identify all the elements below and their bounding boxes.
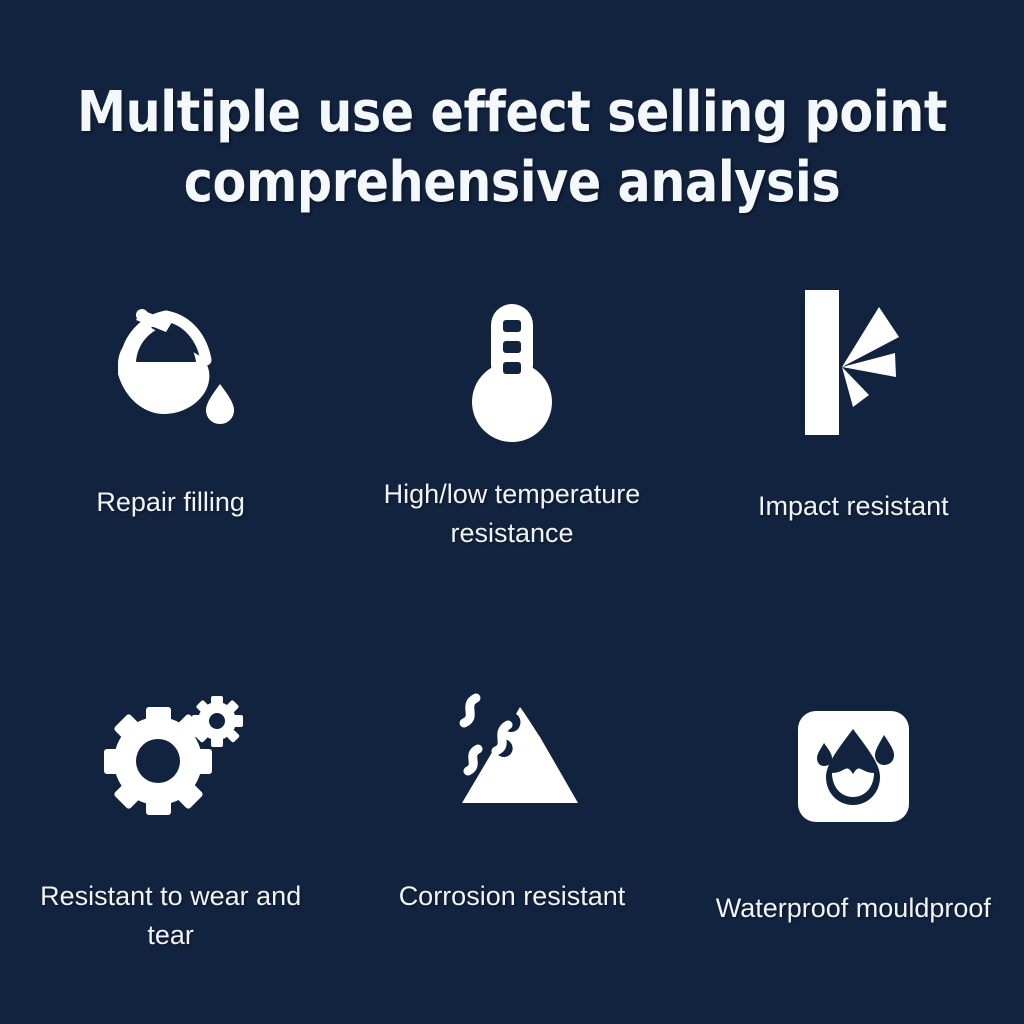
feature-item-wear-and-tear: Resistant to wear and tear	[0, 660, 341, 960]
feature-row-top: Repair filling High/	[0, 270, 1024, 570]
feature-item-repair-filling: Repair filling	[0, 270, 341, 570]
feature-row-bottom: Resistant to wear and tear	[0, 660, 1024, 960]
feature-grid: Repair filling High/	[0, 270, 1024, 970]
feature-item-temperature-resistance: High/low temperature resistance	[341, 270, 682, 570]
feature-item-impact-resistant: Impact resistant	[683, 270, 1024, 570]
water-drop-square-icon	[796, 684, 911, 849]
feature-label-corrosion-resistant: Corrosion resistant	[399, 877, 626, 916]
page-title: Multiple use effect selling point compre…	[0, 78, 1024, 218]
impact-shards-icon	[783, 280, 923, 445]
feature-label-temperature-resistance: High/low temperature resistance	[362, 475, 662, 553]
feature-label-repair-filling: Repair filling	[96, 483, 245, 522]
feature-label-waterproof-mouldproof: Waterproof mouldproof	[716, 889, 991, 928]
feature-infographic-page: { "theme": { "background_color": "#12233…	[0, 0, 1024, 1024]
thermometer-icon	[447, 290, 577, 455]
page-title-line-1: Multiple use effect selling point	[61, 78, 962, 148]
page-title-line-2: comprehensive analysis	[61, 148, 962, 218]
feature-label-wear-and-tear: Resistant to wear and tear	[21, 877, 321, 955]
corroding-mound-fumes-icon	[432, 660, 592, 825]
gears-icon	[96, 670, 246, 835]
feature-item-waterproof-mouldproof: Waterproof mouldproof	[683, 660, 1024, 960]
feature-label-impact-resistant: Impact resistant	[758, 487, 949, 526]
feature-item-corrosion-resistant: Corrosion resistant	[341, 660, 682, 960]
glue-bucket-pour-icon	[96, 282, 246, 447]
